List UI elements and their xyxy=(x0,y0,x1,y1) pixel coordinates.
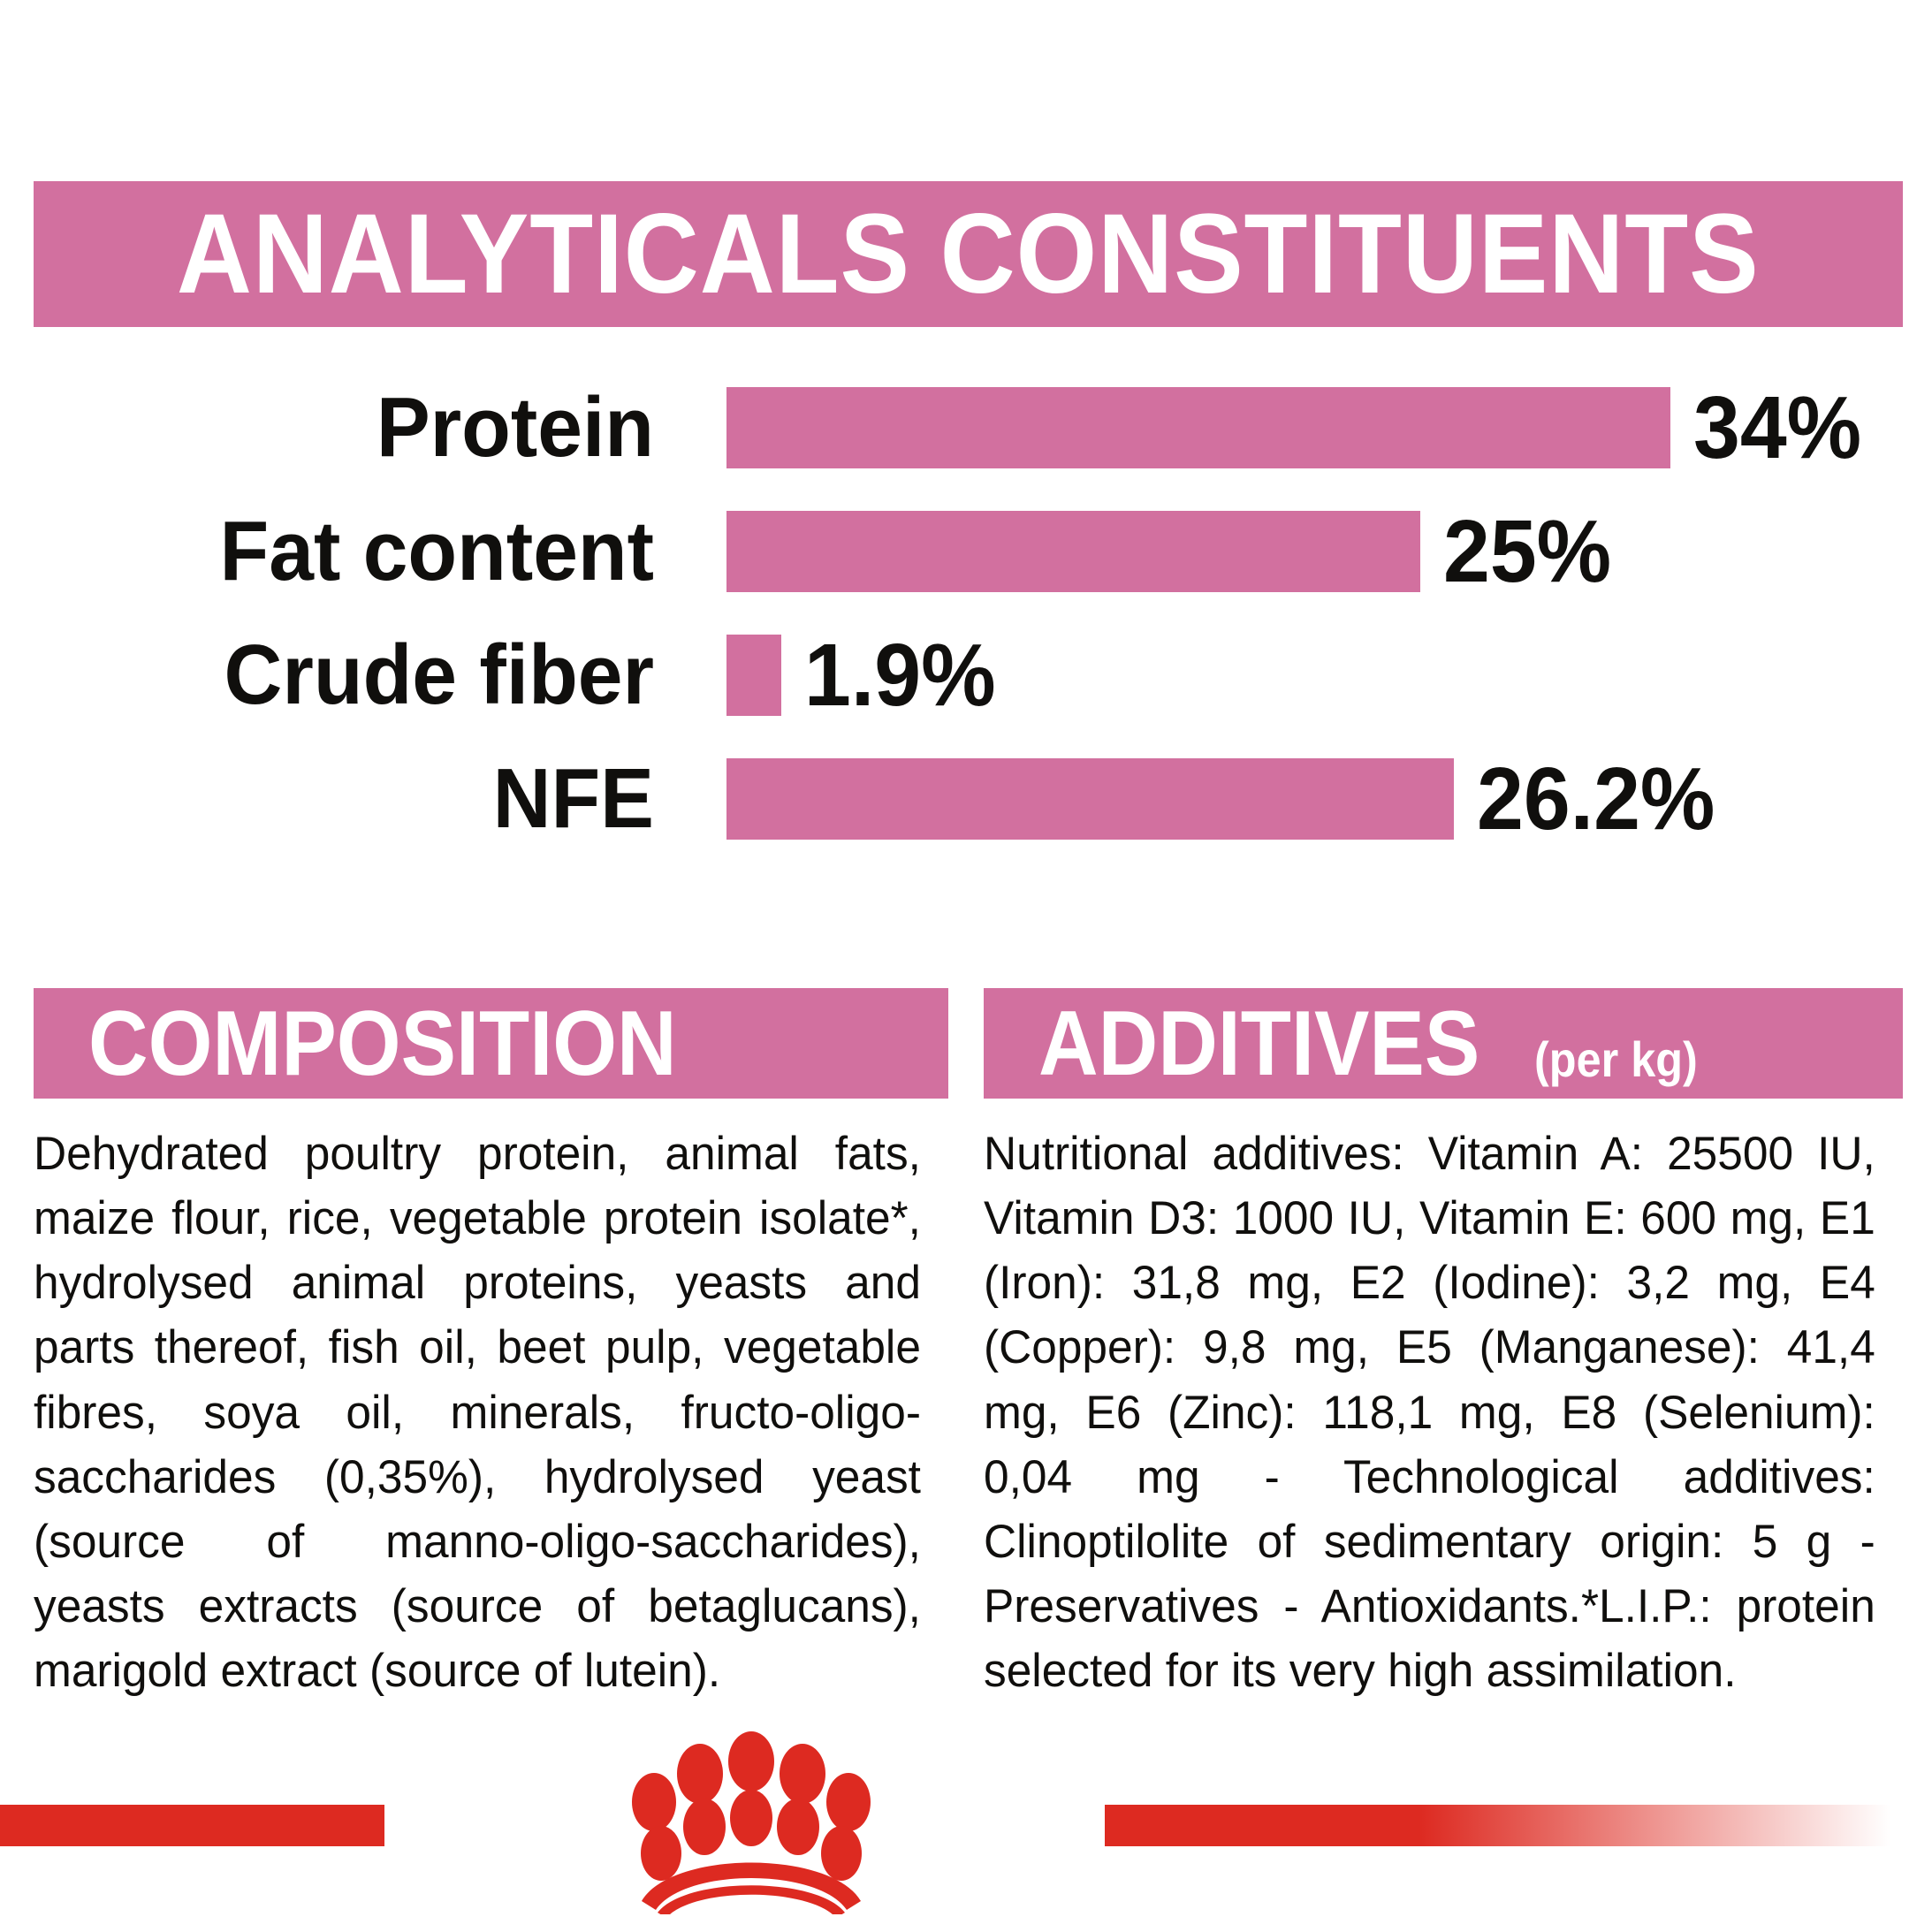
composition-panel-header: COMPOSITION xyxy=(34,988,948,1099)
composition-body-text: Dehydrated poultry protein, animal fats,… xyxy=(34,1122,921,1703)
chart-bar xyxy=(726,511,1420,592)
chart-bar xyxy=(726,387,1670,468)
chart-value-label: 25% xyxy=(1443,507,1611,596)
chart-row: Protein34% xyxy=(0,371,1932,484)
chart-value-label: 34% xyxy=(1693,384,1861,472)
additives-panel-header: ADDITIVES (per kg) xyxy=(984,988,1903,1099)
chart-row: NFE26.2% xyxy=(0,742,1932,856)
analyticals-header-title: ANALYTICALS CONSTITUENTS xyxy=(177,198,1760,311)
chart-bar xyxy=(726,758,1454,840)
analyticals-bar-chart: Protein34%Fat content25%Crude fiber1.9%N… xyxy=(0,371,1932,875)
chart-bar-group: 34% xyxy=(726,387,1870,468)
chart-bar-group: 26.2% xyxy=(726,758,1728,840)
footer xyxy=(0,1706,1932,1932)
chart-row: Crude fiber1.9% xyxy=(0,619,1932,732)
analyticals-constituents-header: ANALYTICALS CONSTITUENTS xyxy=(34,181,1903,327)
footer-rule-right xyxy=(1105,1805,1932,1846)
additives-body-text: Nutritional additives: Vitamin A: 25500 … xyxy=(984,1122,1875,1703)
additives-header-subtitle: (per kg) xyxy=(1534,1035,1698,1099)
chart-category-label: Fat content xyxy=(33,509,654,594)
chart-category-label: Crude fiber xyxy=(33,633,654,718)
chart-bar xyxy=(726,635,781,716)
chart-category-label: Protein xyxy=(33,385,654,470)
composition-header-title: COMPOSITION xyxy=(88,998,677,1090)
chart-bar-group: 1.9% xyxy=(726,635,1006,716)
chart-row: Fat content25% xyxy=(0,495,1932,608)
additives-header-title: ADDITIVES xyxy=(1038,998,1479,1090)
chart-value-label: 26.2% xyxy=(1477,755,1715,843)
chart-category-label: NFE xyxy=(33,757,654,841)
footer-rule-left xyxy=(0,1805,384,1846)
chart-value-label: 1.9% xyxy=(804,631,996,719)
additives-panel: ADDITIVES (per kg) Nutritional additives… xyxy=(984,988,1903,1703)
composition-panel: COMPOSITION Dehydrated poultry protein, … xyxy=(34,988,948,1703)
royal-canin-crown-logo xyxy=(412,1713,1091,1925)
chart-bar-group: 25% xyxy=(726,511,1620,592)
